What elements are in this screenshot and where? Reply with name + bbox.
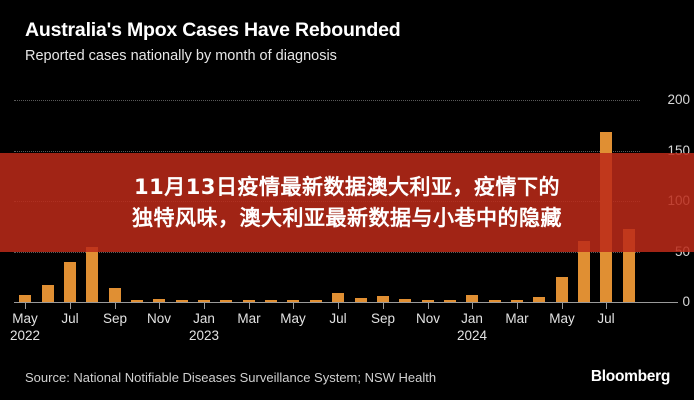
x-axis-tick-label: May [280, 311, 306, 327]
x-axis-tick-label: Jul [597, 311, 614, 327]
x-axis-tick [428, 302, 429, 309]
page-title: Australia's Mpox Cases Have Rebounded [25, 18, 665, 42]
x-axis-tick [293, 302, 294, 309]
x-axis-tick [25, 302, 26, 309]
bar [86, 247, 98, 302]
overlay-line-1: 11月13日疫情最新数据澳大利亚，疫情下的 [27, 172, 667, 203]
x-axis-tick-label: Jul [61, 311, 78, 327]
x-axis-tick [204, 302, 205, 309]
x-axis-tick-label: Nov [147, 311, 171, 327]
chart-header: Australia's Mpox Cases Have Rebounded Re… [25, 18, 665, 66]
bar [332, 293, 344, 302]
x-axis-tick [562, 302, 563, 309]
bar [556, 277, 568, 302]
x-axis: May2022JulSepNovJan2023MarMayJulSepNovJa… [14, 302, 640, 362]
x-axis-tick [383, 302, 384, 309]
x-axis-tick [517, 302, 518, 309]
bar [42, 285, 54, 302]
x-axis-tick [338, 302, 339, 309]
x-axis-tick-label: Mar [237, 311, 260, 327]
overlay-line-2: 独特风味，澳大利亚最新数据与小巷中的隐藏 [27, 203, 667, 234]
x-axis-tick [115, 302, 116, 309]
x-axis-tick [70, 302, 71, 309]
x-axis-tick-label: Jan [461, 311, 483, 327]
x-axis-tick-label: Jan [193, 311, 215, 327]
chart-screenshot: Australia's Mpox Cases Have Rebounded Re… [0, 0, 694, 400]
x-axis-year-label: 2022 [10, 328, 40, 344]
x-axis-tick-label: Nov [416, 311, 440, 327]
y-axis-tick-label: 200 [644, 93, 690, 107]
chart-footer: Source: National Notifiable Diseases Sur… [0, 360, 694, 400]
overlay-text: 11月13日疫情最新数据澳大利亚，疫情下的 独特风味，澳大利亚最新数据与小巷中的… [27, 172, 667, 234]
x-axis-tick [606, 302, 607, 309]
bar [109, 288, 121, 302]
source-note: Source: National Notifiable Diseases Sur… [25, 370, 436, 386]
x-axis-year-label: 2023 [189, 328, 219, 344]
x-axis-tick [249, 302, 250, 309]
x-axis-year-label: 2024 [457, 328, 487, 344]
bar [19, 295, 31, 302]
x-axis-tick-label: Sep [371, 311, 395, 327]
x-axis-tick-label: Jul [329, 311, 346, 327]
x-axis-tick-label: Sep [103, 311, 127, 327]
x-axis-tick [159, 302, 160, 309]
bar [466, 295, 478, 302]
x-axis-tick-label: Mar [505, 311, 528, 327]
x-axis-tick [472, 302, 473, 309]
y-axis-tick-label: 0 [644, 295, 690, 309]
bloomberg-logo: Bloomberg [591, 368, 670, 386]
x-axis-tick-label: May [549, 311, 575, 327]
overlay-banner: 11月13日疫情最新数据澳大利亚，疫情下的 独特风味，澳大利亚最新数据与小巷中的… [0, 153, 694, 252]
bar [64, 262, 76, 302]
x-axis-tick-label: May [12, 311, 38, 327]
chart-subtitle: Reported cases nationally by month of di… [25, 46, 665, 66]
